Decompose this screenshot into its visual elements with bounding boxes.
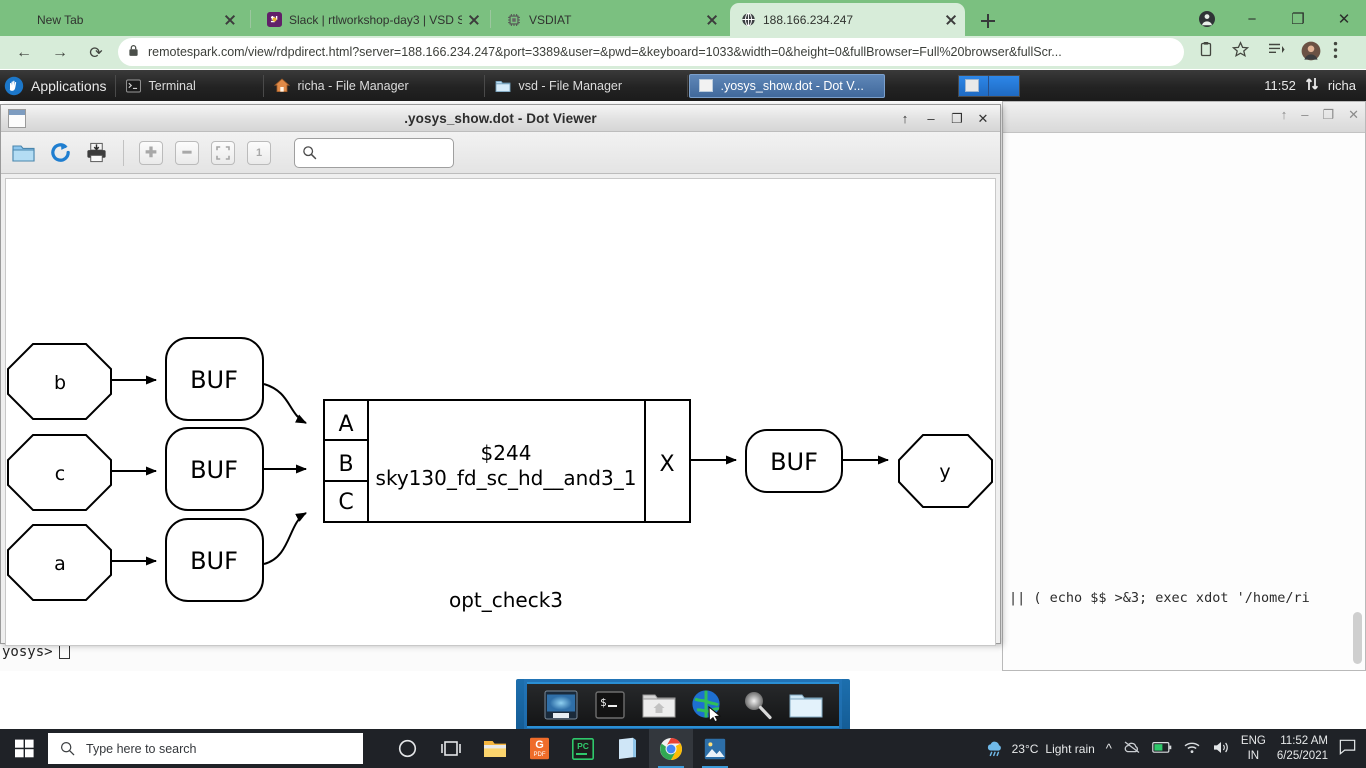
- reload-button[interactable]: [45, 138, 75, 168]
- language-line-1: ENG: [1241, 734, 1266, 749]
- plus-icon: ✚: [139, 141, 163, 165]
- cell-type-label: sky130_fd_sc_hd__and3_1: [376, 466, 637, 490]
- close-icon[interactable]: ✕: [976, 111, 990, 127]
- background-window-controls[interactable]: ↑ – ❐ ✕: [1281, 107, 1359, 123]
- book-icon: [617, 737, 637, 760]
- reading-list-button[interactable]: [1268, 41, 1286, 57]
- onedrive-icon[interactable]: [1123, 740, 1141, 757]
- panel-task-terminal[interactable]: Terminal: [117, 74, 262, 98]
- browser-tab-3[interactable]: 188.166.234.247: [730, 3, 965, 36]
- browser-tab-2[interactable]: VSDIAT: [496, 3, 726, 36]
- graph-node-buffer-out[interactable]: BUF: [746, 430, 842, 492]
- reload-icon: [49, 141, 72, 164]
- taskbar-app-task-view[interactable]: [429, 729, 473, 768]
- applications-label: Applications: [31, 78, 107, 94]
- graph-svg: b c a BUF BUF: [6, 179, 996, 645]
- zoom-100-button[interactable]: 1: [244, 138, 274, 168]
- panel-task-label: richa - File Manager: [298, 79, 409, 93]
- forward-button[interactable]: →: [46, 39, 74, 67]
- panel-task-vsd-file-manager[interactable]: vsd - File Manager: [486, 74, 686, 98]
- background-window[interactable]: ↑ – ❐ ✕ || ( echo $$ >&3; exec xdot '/ho…: [1002, 101, 1366, 671]
- node-label: b: [54, 372, 66, 394]
- dock-item-home-folder[interactable]: [639, 687, 679, 723]
- workspace-2[interactable]: [989, 76, 1019, 96]
- zoom-fit-button[interactable]: [208, 138, 238, 168]
- globe-icon: [740, 12, 756, 28]
- profile-avatar-icon: [1301, 41, 1321, 61]
- taskbar-app-book[interactable]: [605, 729, 649, 768]
- graph-edges-input-to-buffer: [112, 380, 156, 561]
- node-label: BUF: [190, 366, 238, 394]
- node-label: y: [939, 461, 950, 483]
- graph-node-input-c[interactable]: c: [8, 435, 111, 510]
- close-icon[interactable]: [704, 12, 720, 28]
- browser-minimize-button[interactable]: −: [1237, 5, 1267, 33]
- maximize-icon[interactable]: ❐: [1322, 107, 1334, 123]
- graph-node-output-y[interactable]: y: [899, 435, 992, 507]
- panel-right-area: 11:52 richa: [1264, 76, 1366, 95]
- browser-tab-1[interactable]: Slack | rtlworkshop-day3 | VSD S: [256, 3, 488, 36]
- svg-text:$: $: [600, 696, 607, 709]
- terminal-icon: $: [595, 691, 625, 719]
- cell-instance-label: $244: [481, 441, 532, 465]
- zoom-in-button[interactable]: ✚: [136, 138, 166, 168]
- panel-task-dot-viewer[interactable]: .yosys_show.dot - Dot V...: [689, 74, 885, 98]
- graph-edges-buffer-to-cell: [264, 384, 306, 564]
- windows-search-box[interactable]: Type here to search: [48, 733, 363, 764]
- workspace-1[interactable]: [959, 76, 990, 96]
- node-label: BUF: [190, 547, 238, 575]
- panel-task-richa-file-manager[interactable]: richa - File Manager: [265, 74, 483, 98]
- cell-port-a: A: [338, 412, 353, 437]
- chrome-menu-button[interactable]: [1333, 41, 1338, 59]
- browser-close-button[interactable]: ✕: [1329, 5, 1359, 33]
- address-bar-url: remotespark.com/view/rdpdirect.html?serv…: [148, 45, 1062, 59]
- close-icon[interactable]: [466, 12, 482, 28]
- cell-port-c: C: [338, 490, 353, 515]
- pycharm-icon: PC: [572, 738, 594, 760]
- yosys-prompt-text: yosys>: [2, 644, 53, 660]
- system-tray: 23°C Light rain ^: [985, 734, 1366, 764]
- zoom-fit-icon: [211, 141, 235, 165]
- folder-icon: [789, 691, 823, 719]
- panel-user-label[interactable]: richa: [1328, 78, 1356, 93]
- minimize-icon[interactable]: –: [924, 111, 938, 126]
- search-icon: [60, 741, 75, 756]
- clipboard-icon: [1198, 41, 1214, 57]
- shade-icon[interactable]: ↑: [898, 111, 912, 126]
- home-folder-icon: [274, 78, 290, 93]
- panel-separator: [263, 75, 264, 97]
- windows-search-placeholder: Type here to search: [86, 742, 196, 756]
- network-updown-icon[interactable]: [1305, 76, 1319, 95]
- graph-canvas[interactable]: b c a BUF BUF: [5, 178, 996, 646]
- dock-item-file-manager[interactable]: [786, 687, 826, 723]
- clock[interactable]: 11:52 AM 6/25/2021: [1277, 734, 1328, 764]
- dot-viewer-window-controls[interactable]: ↑ – ❐ ✕: [898, 105, 996, 132]
- start-button[interactable]: [0, 729, 48, 768]
- browser-maximize-button[interactable]: ❐: [1283, 5, 1313, 33]
- photos-icon: [704, 738, 726, 760]
- taskbar-app-file-explorer[interactable]: [473, 729, 517, 768]
- dot-viewer-toolbar: ✚ ━ 1: [1, 132, 1000, 174]
- maximize-icon[interactable]: ❐: [950, 111, 964, 127]
- taskbar-app-cortana[interactable]: [385, 729, 429, 768]
- window-icon: [8, 109, 26, 128]
- browser-tab-0[interactable]: New Tab: [4, 3, 244, 36]
- graph-node-buffer-c[interactable]: BUF: [166, 428, 263, 510]
- pdf-icon: G PDF: [529, 737, 550, 760]
- node-label: BUF: [770, 448, 818, 476]
- panel-task-label: Terminal: [149, 79, 196, 93]
- slack-icon: [266, 12, 282, 28]
- clock-time: 11:52 AM: [1280, 734, 1328, 749]
- zoom-100-icon: 1: [247, 141, 271, 165]
- kebab-menu-icon: [1333, 41, 1338, 59]
- minus-icon: ━: [175, 141, 199, 165]
- open-button[interactable]: [9, 138, 39, 168]
- dock-item-search[interactable]: [737, 687, 777, 723]
- windows-logo-icon: [15, 739, 34, 758]
- bookmark-button[interactable]: [1232, 41, 1249, 58]
- copy-link-button[interactable]: [1198, 41, 1214, 57]
- weather-temperature: 23°C: [1012, 742, 1039, 756]
- address-bar[interactable]: remotespark.com/view/rdpdirect.html?serv…: [118, 38, 1184, 66]
- reload-button[interactable]: ⟳: [82, 39, 110, 67]
- graph-node-buffer-a[interactable]: BUF: [166, 519, 263, 601]
- reading-list-icon: [1268, 41, 1286, 57]
- search-input[interactable]: [294, 138, 454, 168]
- graph-node-buffer-b[interactable]: BUF: [166, 338, 263, 420]
- back-button[interactable]: ←: [10, 39, 38, 67]
- task-view-icon: [440, 739, 462, 758]
- terminal-visible-line: || ( echo $$ >&3; exec xdot '/home/ri: [1009, 590, 1310, 606]
- close-icon[interactable]: [222, 12, 238, 28]
- taskbar-app-chrome[interactable]: [649, 729, 693, 768]
- home-folder-icon: [642, 691, 676, 719]
- tab-separator: [490, 10, 491, 28]
- weather-condition: Light rain: [1045, 742, 1094, 756]
- background-window-titlebar[interactable]: ↑ – ❐ ✕: [1003, 102, 1365, 133]
- windows-taskbar: Type here to search G PDF: [0, 729, 1366, 768]
- battery-icon[interactable]: [1152, 741, 1172, 757]
- close-icon[interactable]: ✕: [1348, 107, 1359, 123]
- workspace-switcher[interactable]: [958, 75, 1022, 97]
- wifi-icon[interactable]: [1183, 740, 1201, 757]
- svg-text:G: G: [535, 739, 544, 751]
- graph-caption: opt_check3: [449, 588, 563, 612]
- panel-task-label: .yosys_show.dot - Dot V...: [721, 79, 864, 93]
- taskbar-app-pdf[interactable]: G PDF: [517, 729, 561, 768]
- graph-node-cell[interactable]: A B C X $244 sky130_fd_sc_hd__and3_1: [324, 400, 690, 522]
- lock-icon: [128, 44, 139, 60]
- tab-separator: [250, 10, 251, 28]
- applications-menu-button[interactable]: Applications: [0, 76, 115, 96]
- chip-icon: [506, 12, 522, 28]
- toolbar-divider: [123, 140, 124, 166]
- open-folder-icon: [12, 142, 36, 164]
- tab-title: 188.166.234.247: [763, 13, 939, 27]
- blank-favicon-icon: [14, 12, 30, 28]
- search-icon: [302, 145, 317, 160]
- profile-avatar[interactable]: [1301, 41, 1321, 61]
- dot-viewer-titlebar[interactable]: .yosys_show.dot - Dot Viewer ↑ – ❐ ✕: [1, 105, 1000, 132]
- dot-viewer-title: .yosys_show.dot - Dot Viewer: [404, 111, 597, 126]
- volume-icon[interactable]: [1212, 740, 1230, 758]
- print-icon: [85, 141, 108, 164]
- dot-viewer-window[interactable]: .yosys_show.dot - Dot Viewer ↑ – ❐ ✕: [0, 104, 1001, 644]
- browser-tabstrip: New Tab Slack | rtlworkshop-day3 | VSD S: [0, 0, 1366, 36]
- minimize-icon[interactable]: –: [1301, 107, 1308, 123]
- tab-title: Slack | rtlworkshop-day3 | VSD S: [289, 13, 462, 27]
- chevron-up-icon[interactable]: ^: [1106, 741, 1112, 756]
- tab-title: New Tab: [37, 13, 218, 27]
- panel-separator: [115, 75, 116, 97]
- terminal-icon: [126, 79, 141, 93]
- folder-icon: [495, 79, 511, 93]
- rain-icon: [985, 740, 1005, 758]
- star-icon: [1232, 41, 1249, 58]
- graph-node-input-b[interactable]: b: [8, 344, 111, 419]
- dock: $: [527, 682, 839, 728]
- cell-port-b: B: [338, 452, 353, 477]
- screen: ↑ – ❐ ✕ || ( echo $$ >&3; exec xdot '/ho…: [0, 0, 1366, 768]
- taskbar-app-photos[interactable]: [693, 729, 737, 768]
- language-line-2: IN: [1248, 749, 1260, 764]
- dot-search-field[interactable]: [322, 145, 440, 160]
- node-label: BUF: [190, 456, 238, 484]
- browser-profile-icon[interactable]: [1192, 5, 1222, 33]
- magnifier-icon: [741, 690, 773, 720]
- close-icon[interactable]: [943, 12, 959, 28]
- cell-port-x: X: [659, 452, 674, 477]
- zoom-out-button[interactable]: ━: [172, 138, 202, 168]
- dock-item-show-desktop[interactable]: [541, 687, 581, 723]
- xfce-panel: Applications Terminal richa - File Manag…: [0, 70, 1366, 101]
- notification-icon[interactable]: [1339, 739, 1356, 758]
- panel-separator: [687, 75, 688, 97]
- print-button[interactable]: [81, 138, 111, 168]
- tab-title: VSDIAT: [529, 13, 700, 27]
- panel-separator: [484, 75, 485, 97]
- panel-clock-label[interactable]: 11:52: [1264, 78, 1296, 93]
- window-icon: [699, 79, 713, 92]
- globe-icon: [691, 689, 725, 721]
- svg-text:PC: PC: [577, 741, 589, 751]
- graph-node-input-a[interactable]: a: [8, 525, 111, 600]
- file-explorer-icon: [483, 738, 507, 759]
- pager[interactable]: [958, 75, 1020, 97]
- language-indicator[interactable]: ENG IN: [1241, 734, 1266, 764]
- dock-item-terminal[interactable]: $: [590, 687, 630, 723]
- chrome-icon: [659, 737, 683, 761]
- cortana-circle-icon: [398, 739, 417, 758]
- background-window-scrollbar[interactable]: [1353, 612, 1362, 664]
- new-tab-button[interactable]: [975, 8, 1001, 34]
- taskbar-app-pycharm[interactable]: PC: [561, 729, 605, 768]
- node-label: c: [55, 463, 65, 485]
- workspace-window-thumb: [965, 79, 979, 92]
- shade-icon[interactable]: ↑: [1281, 107, 1288, 123]
- clock-date: 6/25/2021: [1277, 749, 1328, 764]
- weather-widget[interactable]: 23°C Light rain: [985, 740, 1095, 758]
- panel-task-label: vsd - File Manager: [519, 79, 623, 93]
- desktop-icon: [544, 690, 578, 720]
- node-label: a: [54, 553, 66, 575]
- svg-text:PDF: PDF: [533, 752, 545, 758]
- applications-icon: [4, 76, 24, 96]
- dock-item-web-browser[interactable]: [688, 687, 728, 723]
